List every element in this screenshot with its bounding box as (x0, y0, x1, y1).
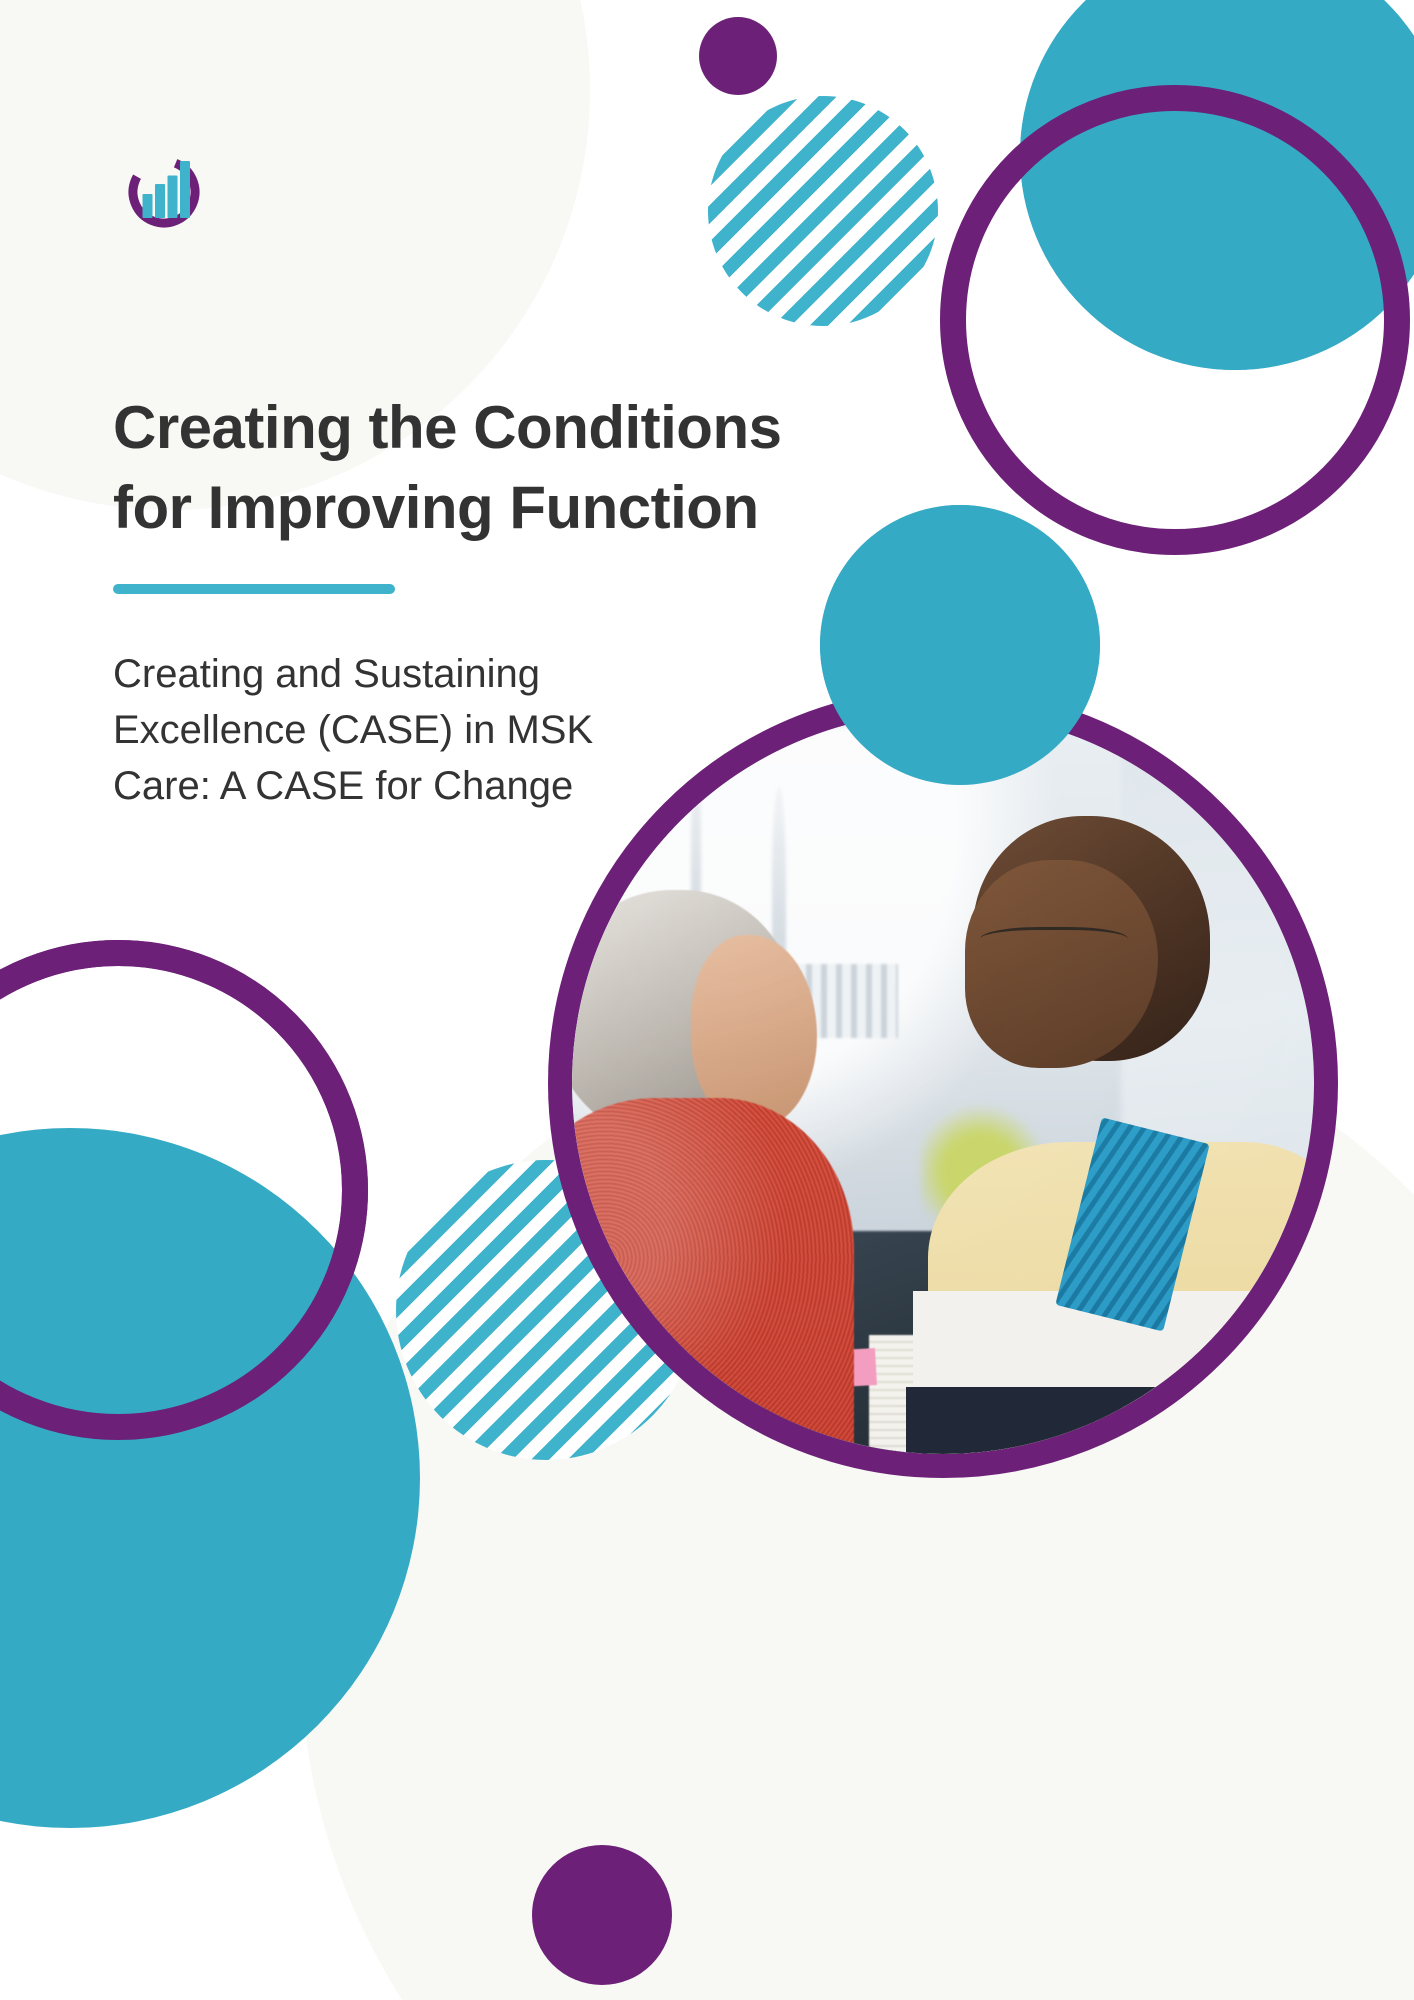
bar-chart-in-circle-logo (122, 146, 206, 230)
striped-disc-top (708, 96, 938, 326)
page-subtitle: Creating and Sustaining Excellence (CASE… (113, 646, 913, 814)
cover-photo (572, 712, 1314, 1454)
page-title: Creating the Conditions for Improving Fu… (113, 388, 913, 548)
purple-ring-top-right (940, 85, 1410, 555)
purple-dot-top (699, 17, 777, 95)
cover-page: Creating the Conditions for Improving Fu… (0, 0, 1414, 2000)
accent-divider (113, 584, 395, 594)
purple-dot-bottom (532, 1845, 672, 1985)
title-block: Creating the Conditions for Improving Fu… (113, 388, 913, 814)
